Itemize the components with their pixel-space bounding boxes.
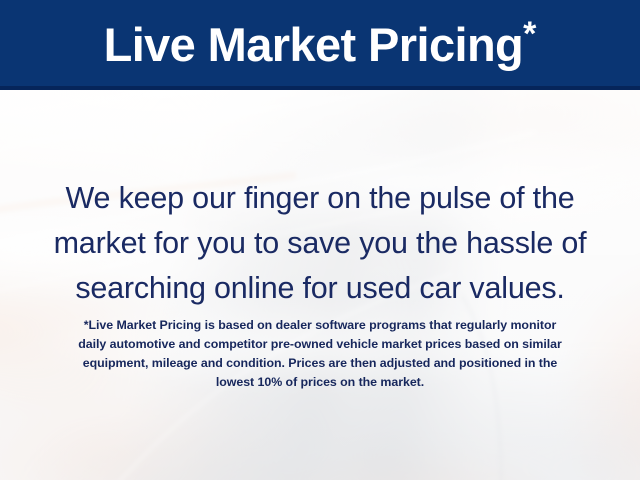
disclaimer-text: *Live Market Pricing is based on dealer …: [22, 316, 618, 392]
slide-content: We keep our finger on the pulse of the m…: [0, 94, 640, 480]
live-market-pricing-slide: Live Market Pricing* We keep our finger …: [0, 0, 640, 480]
headline-line-1: We keep our finger on the pulse of the: [20, 176, 620, 221]
headline: We keep our finger on the pulse of the m…: [20, 176, 620, 311]
disclaimer-line-4: lowest 10% of prices on the market.: [22, 373, 618, 392]
headline-line-2: market for you to save you the hassle of: [20, 221, 620, 266]
disclaimer-line-1: *Live Market Pricing is based on dealer …: [22, 316, 618, 335]
headline-line-3: searching online for used car values.: [20, 266, 620, 311]
disclaimer-line-2: daily automotive and competitor pre-owne…: [22, 335, 618, 354]
page-title-asterisk: *: [523, 15, 536, 53]
page-title-text: Live Market Pricing: [104, 18, 524, 71]
disclaimer-line-3: equipment, mileage and condition. Prices…: [22, 354, 618, 373]
page-title: Live Market Pricing*: [104, 17, 537, 70]
header-banner: Live Market Pricing*: [0, 0, 640, 90]
